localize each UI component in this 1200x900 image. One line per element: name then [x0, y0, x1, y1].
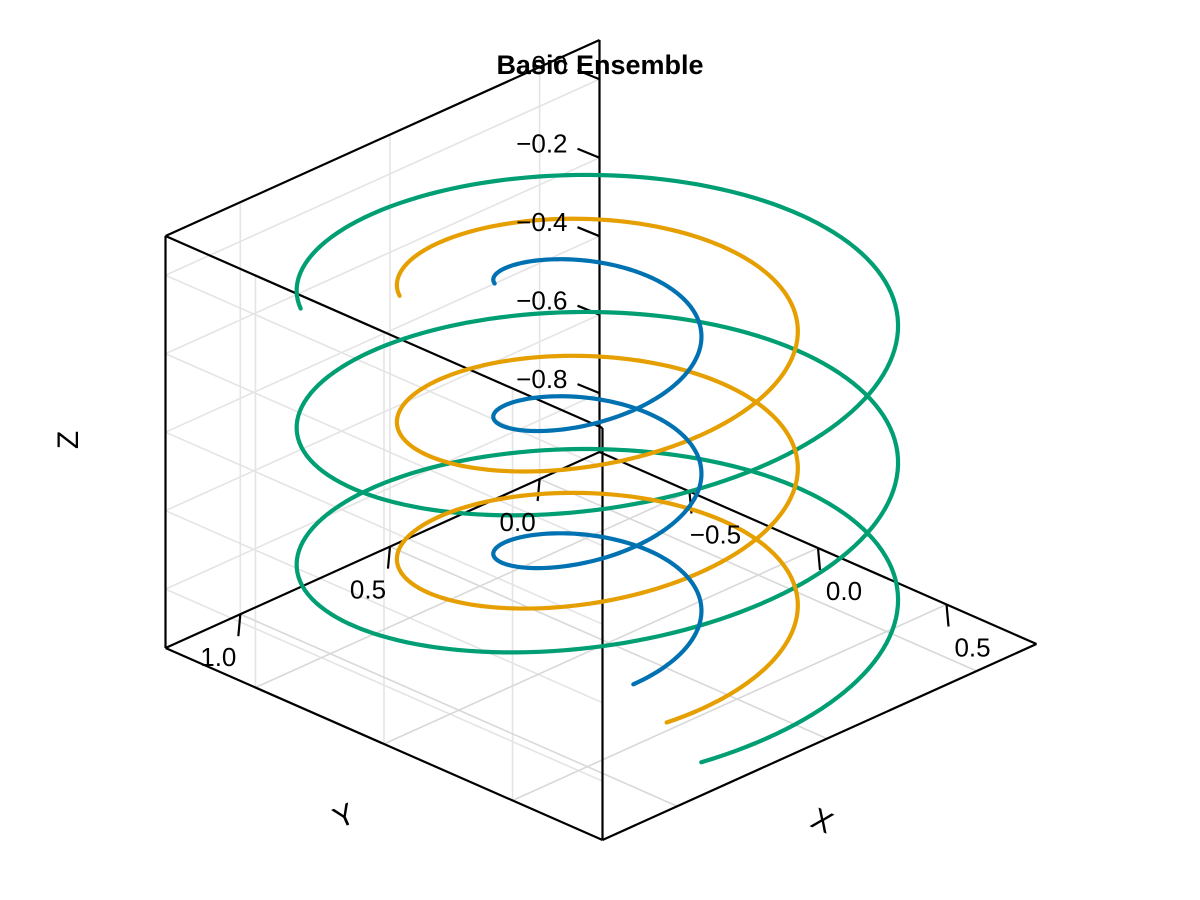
z-axis-label: Z	[52, 431, 85, 449]
y-tick-label: 0.5	[350, 575, 386, 605]
x-tick-label: 0.0	[826, 576, 862, 606]
wall-z-gridline	[166, 393, 600, 589]
y-tick-mark	[538, 479, 540, 501]
x-tick-label: 0.5	[954, 632, 990, 662]
y-tick-label: 1.0	[200, 642, 236, 672]
y-tick-label: 0.0	[500, 507, 536, 537]
z-tick-mark	[578, 149, 600, 158]
axis-frame-group	[166, 40, 1037, 840]
x-tick-mark	[947, 604, 949, 626]
z-tick-label: −0.6	[516, 286, 567, 316]
y-tick-mark	[388, 547, 390, 569]
axis-names-group: ZYX	[52, 431, 838, 841]
floor-gridlines-group	[240, 479, 976, 806]
page-title: Basic Ensemble	[496, 50, 703, 80]
figure-root: 0.0−0.2−0.4−0.6−0.80.00.51.0−0.50.00.5 Z…	[0, 0, 1200, 900]
z-tick-label: −0.2	[516, 129, 567, 159]
data-series-group	[297, 175, 898, 762]
y-axis-label: Y	[328, 797, 360, 835]
x-axis-label: X	[806, 802, 838, 840]
z-tick-label: −0.4	[516, 207, 567, 237]
z-tick-mark	[578, 384, 600, 393]
x-tick-label: −0.5	[690, 520, 741, 550]
floor-y-gridline	[390, 547, 827, 739]
x-tick-mark	[818, 548, 820, 570]
z-tick-label: −0.8	[516, 364, 567, 394]
y-tick-mark	[238, 614, 240, 636]
wall-z-gridline	[166, 158, 600, 354]
floor-x-gridline	[513, 604, 947, 800]
plot-canvas[interactable]: 0.0−0.2−0.4−0.6−0.80.00.51.0−0.50.00.5 Z…	[0, 0, 1200, 900]
z-tick-mark	[578, 227, 600, 236]
